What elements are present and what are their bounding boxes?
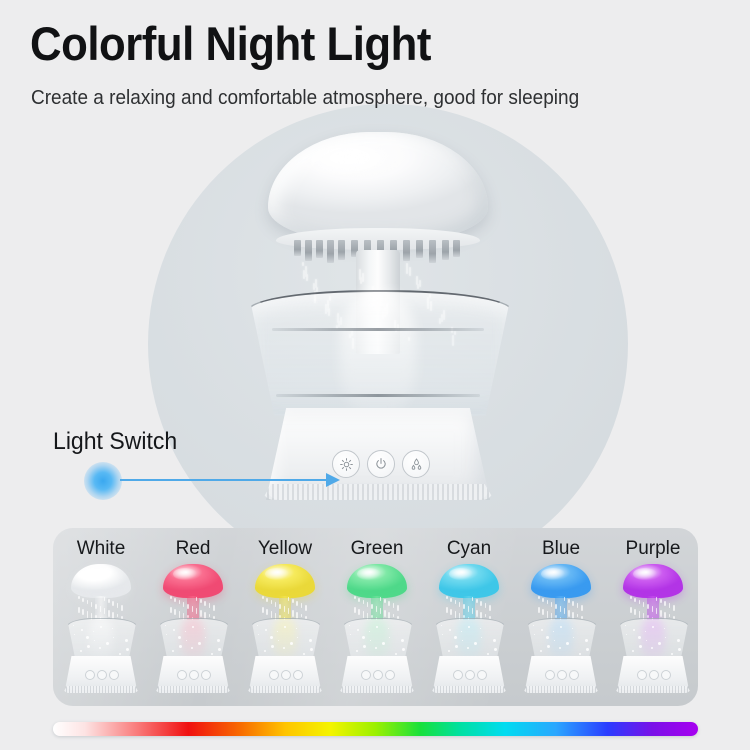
nozzle xyxy=(403,240,410,261)
swatch-label: Red xyxy=(147,538,239,560)
rain-drop xyxy=(362,273,364,282)
callout-glow-dot xyxy=(84,462,122,500)
rain-drop xyxy=(419,280,421,287)
nozzle xyxy=(453,240,460,257)
water-line-lower xyxy=(276,394,480,397)
nozzle xyxy=(442,240,449,260)
mini-vents xyxy=(155,686,231,693)
mini-device xyxy=(613,564,693,702)
mini-vents xyxy=(615,686,691,693)
page-title: Colorful Night Light xyxy=(30,18,431,70)
callout-arrow-line xyxy=(120,479,332,481)
nozzle xyxy=(294,240,301,256)
mini-vents xyxy=(247,686,323,693)
mini-vents xyxy=(63,686,139,693)
mini-vents xyxy=(523,686,599,693)
mini-control-buttons[interactable] xyxy=(177,670,209,678)
rain-drop xyxy=(360,277,362,284)
rain-drop xyxy=(409,267,411,276)
mini-tank xyxy=(159,618,229,660)
color-swatch-blue[interactable]: Blue xyxy=(515,528,607,706)
mini-tank xyxy=(435,618,505,660)
color-swatch-red[interactable]: Red xyxy=(147,528,239,706)
mini-device xyxy=(245,564,325,702)
nozzle xyxy=(316,240,323,258)
swatch-label: Yellow xyxy=(239,538,331,560)
rain-drop xyxy=(302,262,304,266)
mini-cap xyxy=(531,564,591,598)
color-swatch-purple[interactable]: Purple xyxy=(607,528,698,706)
mushroom-cap xyxy=(268,132,488,242)
rain-drop xyxy=(306,274,308,281)
mini-cap xyxy=(71,564,131,598)
color-swatch-cyan[interactable]: Cyan xyxy=(423,528,515,706)
mini-control-buttons[interactable] xyxy=(453,670,485,678)
water-line-upper xyxy=(272,328,484,331)
swatch-label: Purple xyxy=(607,538,698,560)
mini-device xyxy=(61,564,141,702)
rain-drop xyxy=(406,263,408,274)
power-button[interactable] xyxy=(367,450,395,478)
mini-vents xyxy=(339,686,415,693)
mini-vents xyxy=(431,686,507,693)
product-marketing-image: Colorful Night Light Create a relaxing a… xyxy=(0,0,750,750)
callout-arrow-head xyxy=(326,473,340,487)
rain-drop xyxy=(417,284,419,289)
mini-cap xyxy=(163,564,223,598)
swatch-label: Cyan xyxy=(423,538,515,560)
mini-control-buttons[interactable] xyxy=(637,670,669,678)
swatch-label: White xyxy=(55,538,147,560)
color-swatch-yellow[interactable]: Yellow xyxy=(239,528,331,706)
mini-tank xyxy=(67,618,137,660)
page-subtitle: Create a relaxing and comfortable atmosp… xyxy=(31,86,579,110)
control-panel xyxy=(332,450,428,476)
rain-drop xyxy=(303,270,305,279)
color-swatch-green[interactable]: Green xyxy=(331,528,423,706)
mist-button[interactable] xyxy=(402,450,430,478)
mini-control-buttons[interactable] xyxy=(269,670,301,678)
mini-device xyxy=(429,564,509,702)
mini-tank xyxy=(251,618,321,660)
nozzle xyxy=(338,240,345,260)
main-product-image xyxy=(228,132,528,532)
mini-control-buttons[interactable] xyxy=(85,670,117,678)
color-spectrum-bar xyxy=(53,722,698,736)
mini-cap xyxy=(623,564,683,598)
mini-cap xyxy=(439,564,499,598)
swatch-label: Blue xyxy=(515,538,607,560)
light-switch-label: Light Switch xyxy=(53,428,177,456)
mini-tank xyxy=(619,618,689,660)
nozzle xyxy=(416,240,423,258)
color-swatch-panel: WhiteRedYellowGreenCyanBluePurple xyxy=(53,528,698,706)
mini-cap xyxy=(347,564,407,598)
nozzle xyxy=(305,240,312,261)
mini-control-buttons[interactable] xyxy=(545,670,577,678)
base-vents xyxy=(262,484,494,500)
swatch-label: Green xyxy=(331,538,423,560)
mini-tank xyxy=(343,618,413,660)
mini-device xyxy=(153,564,233,702)
color-swatch-white[interactable]: White xyxy=(55,528,147,706)
mini-device xyxy=(521,564,601,702)
mini-control-buttons[interactable] xyxy=(361,670,393,678)
mist-column xyxy=(340,292,416,416)
mini-device xyxy=(337,564,417,702)
mini-tank xyxy=(527,618,597,660)
mini-cap xyxy=(255,564,315,598)
